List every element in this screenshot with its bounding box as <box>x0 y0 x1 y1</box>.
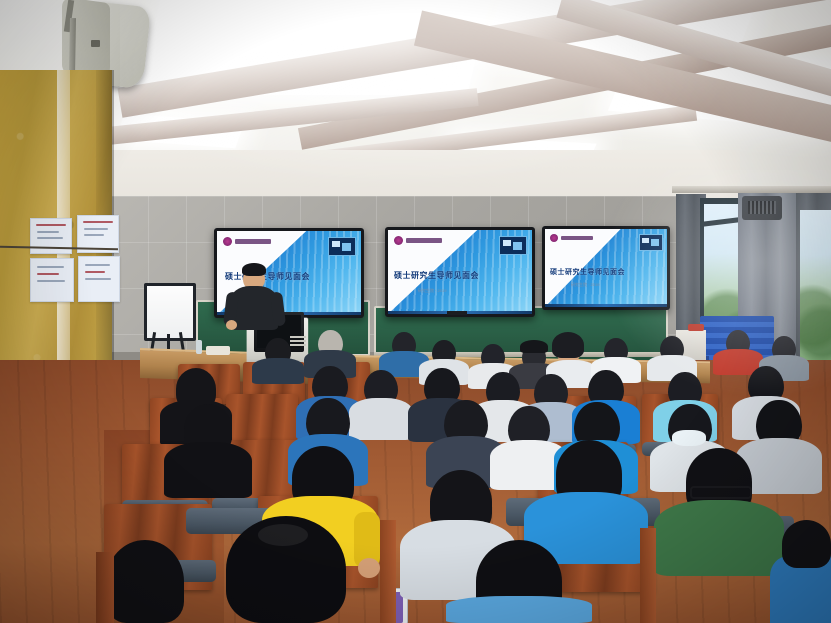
front-desk-items <box>206 346 230 355</box>
slide-subtitle-right: 研究生院 · 2019 <box>571 282 599 288</box>
attendee-body-c1 <box>164 442 252 498</box>
slide-logo-icon <box>223 237 232 246</box>
presenter-body <box>230 286 278 330</box>
easel-whiteboard <box>144 283 196 341</box>
slide-thumbnail-center <box>499 236 527 255</box>
curtain-rail <box>672 186 831 193</box>
attendee-hairshine-d2 <box>258 524 308 546</box>
slide-institution-name <box>235 239 271 244</box>
center-display-slide: 硕士研究生导师见面会 研究生院 · 2019 <box>388 230 532 314</box>
wall-speaker-badge-icon <box>91 40 100 47</box>
slide-title-center: 硕士研究生导师见面会 <box>394 270 479 281</box>
attendee-body-d6 <box>446 596 592 623</box>
wall-notice-3 <box>30 258 74 302</box>
slide-title-left: 硕士研究生导师见面会 <box>225 271 310 282</box>
slide-logo-icon <box>550 234 558 242</box>
presenter-hair <box>242 263 266 276</box>
slide-thumbnail-left <box>328 237 356 256</box>
center-display-stand <box>447 311 467 315</box>
seat-armrest-left <box>96 552 114 623</box>
center-display: 硕士研究生导师见面会 研究生院 · 2019 <box>385 227 535 317</box>
wall-notice-4 <box>78 256 120 302</box>
eyeglasses-icon <box>690 486 752 499</box>
seat-armrest-right <box>640 528 656 623</box>
attendee-head-d7 <box>106 540 184 623</box>
attendee-body-d4 <box>654 500 784 576</box>
window-glass-2 <box>800 210 831 360</box>
podium-vent-icon <box>290 336 306 348</box>
seat-armrest-center <box>380 520 396 623</box>
slide-subtitle-center: 研究生院 · 2019 <box>418 288 446 294</box>
right-display: 硕士研究生导师见面会 研究生院 · 2019 <box>542 226 670 310</box>
attendee-body-a1 <box>252 358 304 384</box>
red-object-on-sill <box>688 324 704 331</box>
slide-institution-name <box>561 236 593 240</box>
presenter-hand <box>226 320 237 330</box>
slide-logo-icon <box>394 236 403 245</box>
face-mask-icon <box>672 430 706 446</box>
lecture-hall-photo: 硕士研究生导师见面会 研究生院 · 2019 硕士研究生导师见面会 研究生院 ·… <box>0 0 831 623</box>
wall-speaker-right-grille-icon <box>748 201 776 214</box>
slide-institution-name <box>406 238 442 243</box>
attendee-head-d8 <box>782 520 831 568</box>
slide-title-right: 硕士研究生导师见面会 <box>550 267 625 277</box>
slide-thumbnail-right <box>639 234 663 251</box>
attendee-hair-a7 <box>552 332 584 358</box>
attendee-hand-d1 <box>358 558 380 578</box>
attendee-body-b3 <box>349 398 413 440</box>
right-display-slide: 硕士研究生导师见面会 研究生院 · 2019 <box>545 229 667 307</box>
attendee-cap-icon <box>520 340 548 353</box>
front-desk-bottle <box>196 340 202 354</box>
